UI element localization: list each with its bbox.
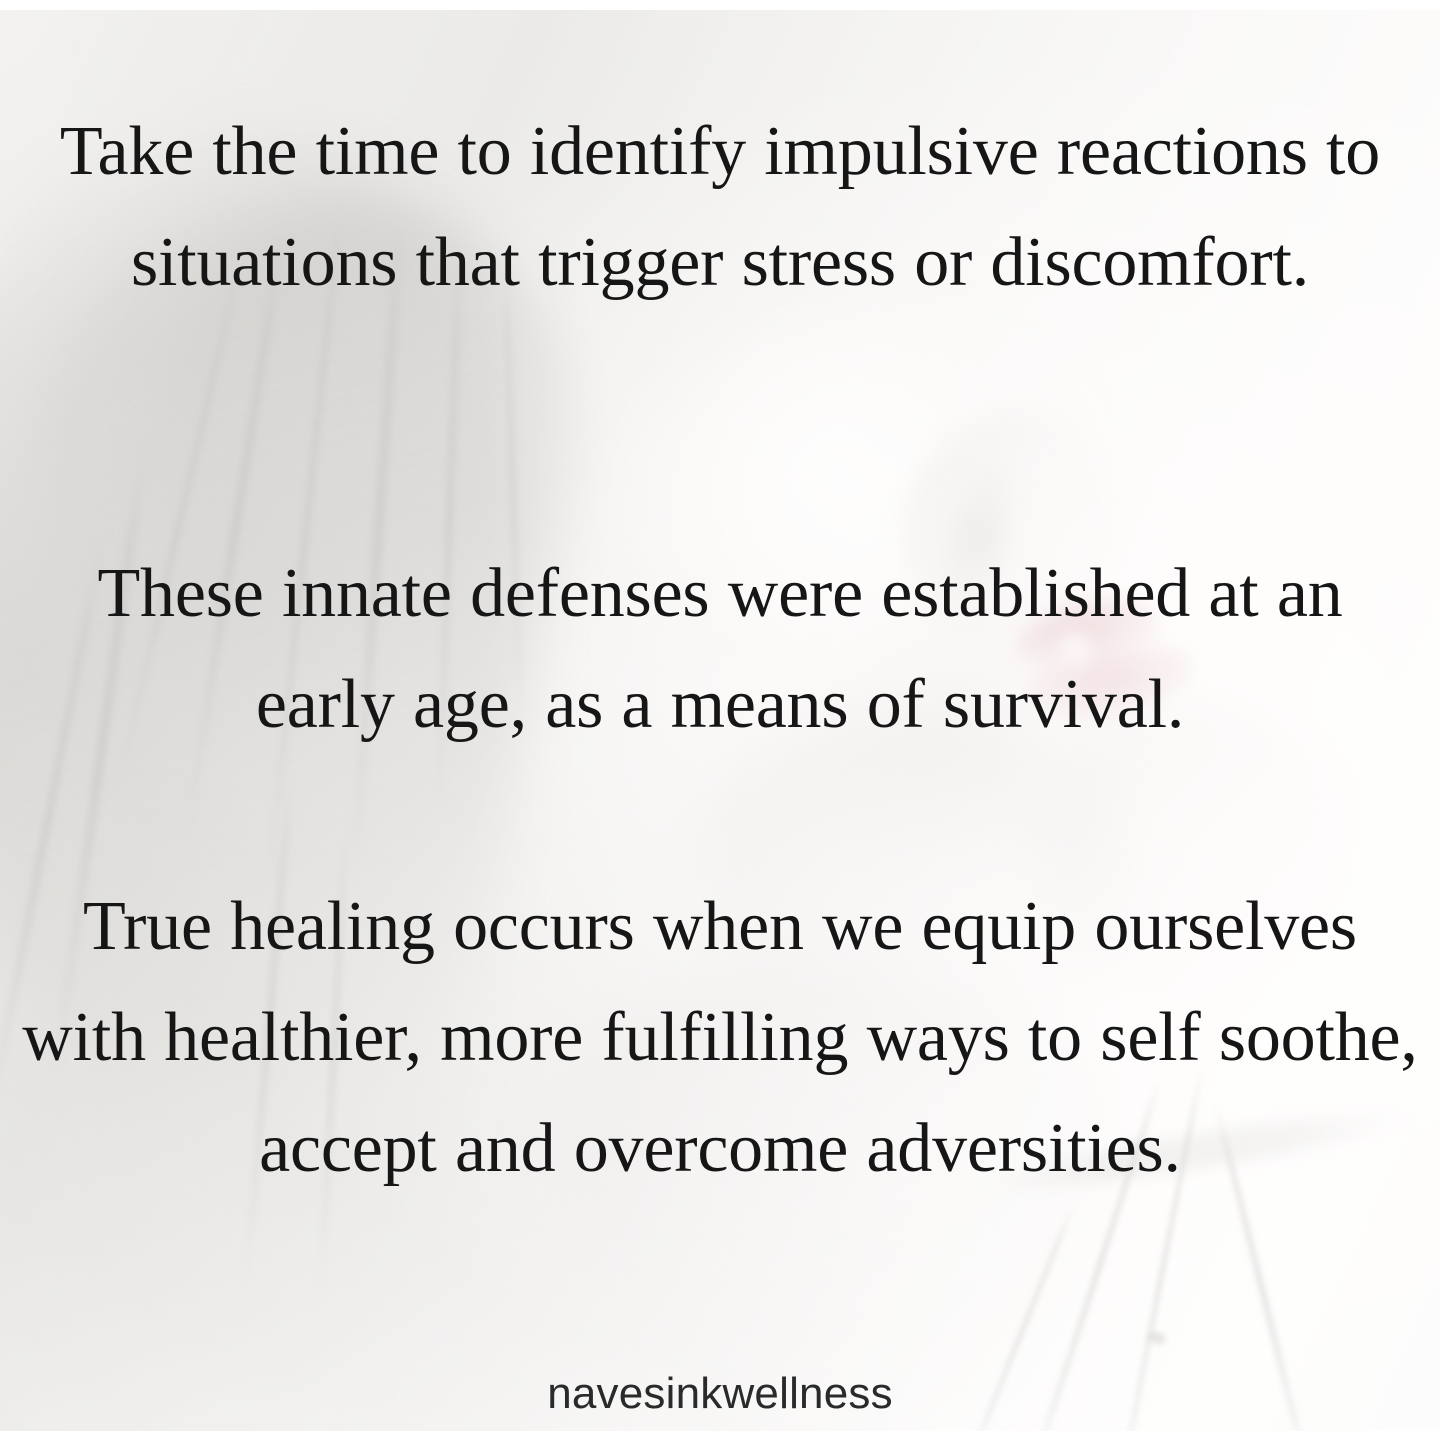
frame-edge-top <box>0 0 1440 10</box>
quote-graphic: Take the time to identify impulsive reac… <box>0 0 1440 1440</box>
quote-paragraph-2: These innate defenses were established a… <box>0 538 1440 760</box>
frame-edge-bottom <box>0 1431 1440 1440</box>
account-handle: navesinkwellness <box>0 1368 1440 1420</box>
quote-paragraph-1: Take the time to identify impulsive reac… <box>0 96 1440 318</box>
quote-paragraph-3: True healing occurs when we equip oursel… <box>0 871 1440 1204</box>
